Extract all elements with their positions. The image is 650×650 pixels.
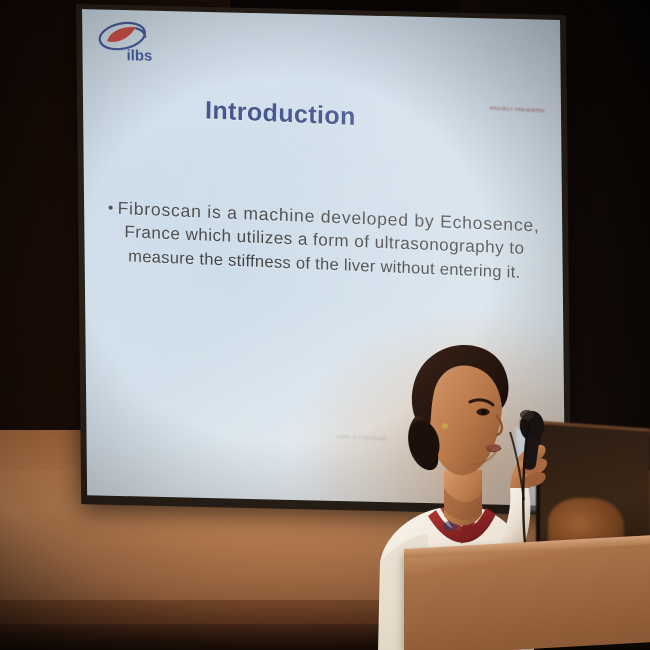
presentation-photo-scene: ilbs Introduction PROJECT PRESENTED Fibr… [0,0,650,650]
presenter-arm-with-microphone [498,410,547,560]
ilbs-logo-icon: ilbs [96,19,168,65]
slide-title: Introduction [205,96,356,132]
presenter-head [404,345,508,475]
slide-body: Fibroscan is a machine developed by Echo… [108,196,549,286]
bullet-dot-icon [109,205,113,209]
svg-text:ilbs: ilbs [126,47,152,65]
earring [442,423,448,429]
corner-stamp: PROJECT PRESENTED [490,106,545,114]
wooden-podium [404,542,650,650]
